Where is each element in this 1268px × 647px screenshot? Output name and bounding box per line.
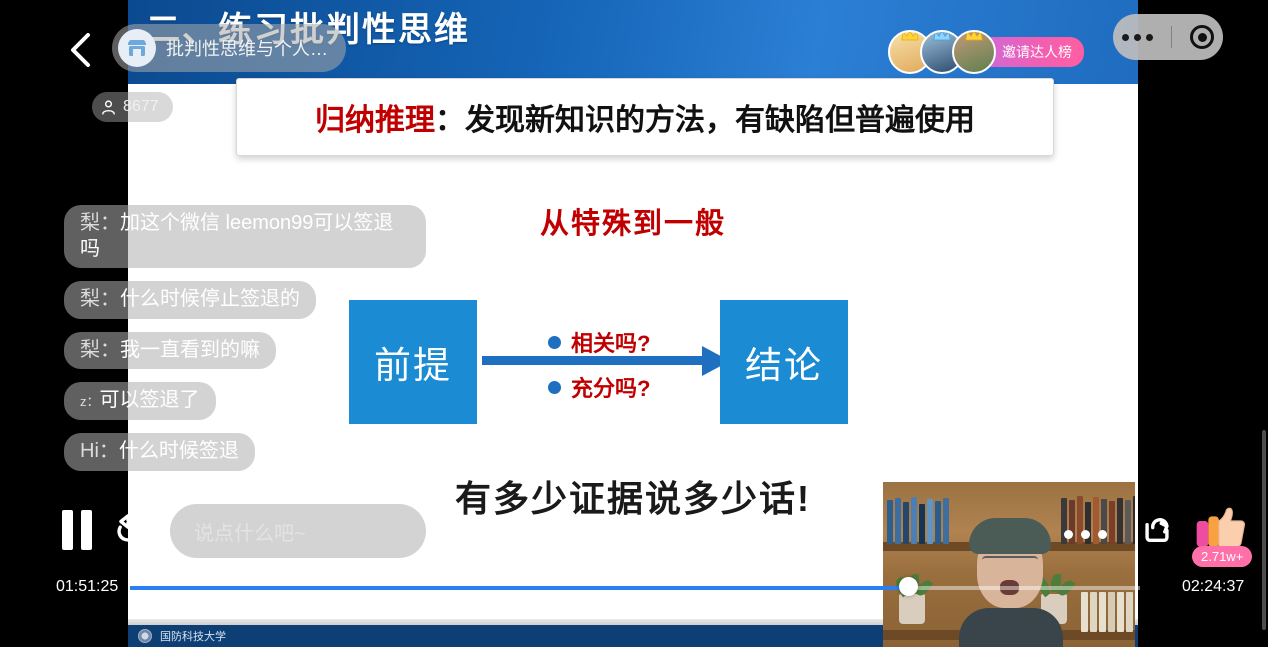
diagram-question-1: 相关吗? [548, 326, 650, 358]
capsule-divider [1171, 26, 1172, 48]
storefront-icon [118, 29, 156, 67]
pause-icon [81, 510, 92, 550]
replay-button[interactable] [106, 508, 150, 552]
replay-arrow-icon [111, 513, 145, 547]
chat-bubble: z：可以签退了 [64, 382, 216, 420]
crown-icon [901, 30, 919, 41]
bullet-dot-icon [548, 336, 561, 349]
progress-bar[interactable] [130, 585, 1140, 591]
viewer-count-text: 8677 [123, 98, 159, 116]
comment-placeholder: 说点什么吧~ [194, 517, 306, 546]
pip-books-left [887, 496, 949, 544]
room-title-text: 批判性思维与个人… [166, 35, 328, 61]
chevron-left-icon [69, 33, 91, 67]
back-button[interactable] [60, 30, 100, 70]
share-arrow-icon [1140, 512, 1174, 546]
bullet-dot-icon [548, 381, 561, 394]
progress-handle[interactable] [899, 577, 918, 596]
chat-text: 什么时候停止签退的 [120, 288, 300, 310]
list-item[interactable]: Hi：什么时候签退 [64, 433, 464, 471]
share-button[interactable] [1133, 505, 1181, 553]
pause-icon [62, 510, 73, 550]
chat-message-list[interactable]: 梨：加这个微信 leemon99可以签退吗 梨：什么时候停止签退的 梨：我一直看… [64, 205, 464, 484]
list-item[interactable]: z：可以签退了 [64, 382, 464, 420]
chat-nickname: Hi： [80, 440, 119, 462]
like-count-badge: 2.71w+ [1192, 546, 1252, 567]
current-time-label: 01:51:25 [56, 578, 118, 596]
target-circle-icon[interactable] [1190, 25, 1214, 49]
webcam-pip[interactable] [883, 482, 1135, 647]
pause-button[interactable] [62, 508, 104, 552]
invite-rank-widget[interactable]: 邀请达人榜 [888, 24, 1084, 80]
diagram-question-2: 充分吗? [548, 371, 650, 403]
chat-nickname: 梨： [80, 212, 120, 234]
total-time-label: 02:24:37 [1182, 578, 1244, 596]
pip-plant-left [899, 594, 925, 624]
pip-person-body [959, 608, 1063, 647]
chat-text: 加这个微信 leemon99可以签退吗 [80, 212, 393, 260]
chat-nickname: 梨： [80, 288, 120, 310]
chat-bubble: 梨：什么时候停止签退的 [64, 281, 316, 319]
chat-bubble: Hi：什么时候签退 [64, 433, 255, 471]
callout-highlight: 归纳推理 [315, 104, 435, 137]
pip-plant-pot [899, 594, 925, 624]
list-item[interactable]: 梨：加这个微信 leemon99可以签退吗 [64, 205, 464, 268]
person-icon [100, 99, 117, 116]
crown-icon [965, 30, 983, 41]
diagram-question-2-label: 充分吗? [571, 371, 650, 403]
pip-dots-indicator [1064, 530, 1107, 539]
miniprogram-capsule[interactable] [1113, 14, 1223, 60]
progress-fill [130, 586, 908, 590]
scrollbar[interactable] [1262, 430, 1266, 630]
chat-text: 我一直看到的嘛 [120, 339, 260, 361]
pip-person-glasses [982, 556, 1038, 565]
chat-text: 可以签退了 [100, 389, 200, 411]
comment-input[interactable]: 说点什么吧~ [170, 504, 426, 558]
room-title-chip[interactable]: 批判性思维与个人… [112, 24, 346, 72]
slide-callout-box: 归纳推理：发现新知识的方法，有缺陷但普遍使用 [236, 78, 1054, 156]
diagram-question-1-label: 相关吗? [571, 326, 650, 358]
list-item[interactable]: 梨：我一直看到的嘛 [64, 332, 464, 370]
more-dots-icon[interactable] [1122, 34, 1153, 41]
viewer-count-chip: 8677 [92, 92, 173, 122]
chat-text: 什么时候签退 [119, 440, 239, 462]
live-player-screen: 二、练习批判性思维 归纳推理：发现新知识的方法，有缺陷但普遍使用 从特殊到一般 … [0, 0, 1268, 647]
callout-rest: ：发现新知识的方法，有缺陷但普遍使用 [435, 104, 975, 137]
rank-avatar-group[interactable] [888, 30, 996, 74]
crown-icon [933, 30, 951, 41]
slide-footer-org: 国防科技大学 [160, 628, 226, 644]
diagram-box-conclusion: 结论 [720, 300, 848, 424]
slide-callout-text: 归纳推理：发现新知识的方法，有缺陷但普遍使用 [315, 95, 975, 139]
chat-bubble: 梨：加这个微信 leemon99可以签退吗 [64, 205, 426, 268]
chat-bubble: 梨：我一直看到的嘛 [64, 332, 276, 370]
list-item[interactable]: 梨：什么时候停止签退的 [64, 281, 464, 319]
chat-nickname: 梨： [80, 339, 120, 361]
chat-nickname: z： [80, 394, 100, 409]
university-logo-icon [138, 629, 152, 643]
avatar[interactable] [952, 30, 996, 74]
like-button[interactable]: 2.71w+ [1192, 500, 1262, 576]
pip-books-stack [1081, 590, 1133, 632]
pip-person-cap [969, 518, 1051, 554]
